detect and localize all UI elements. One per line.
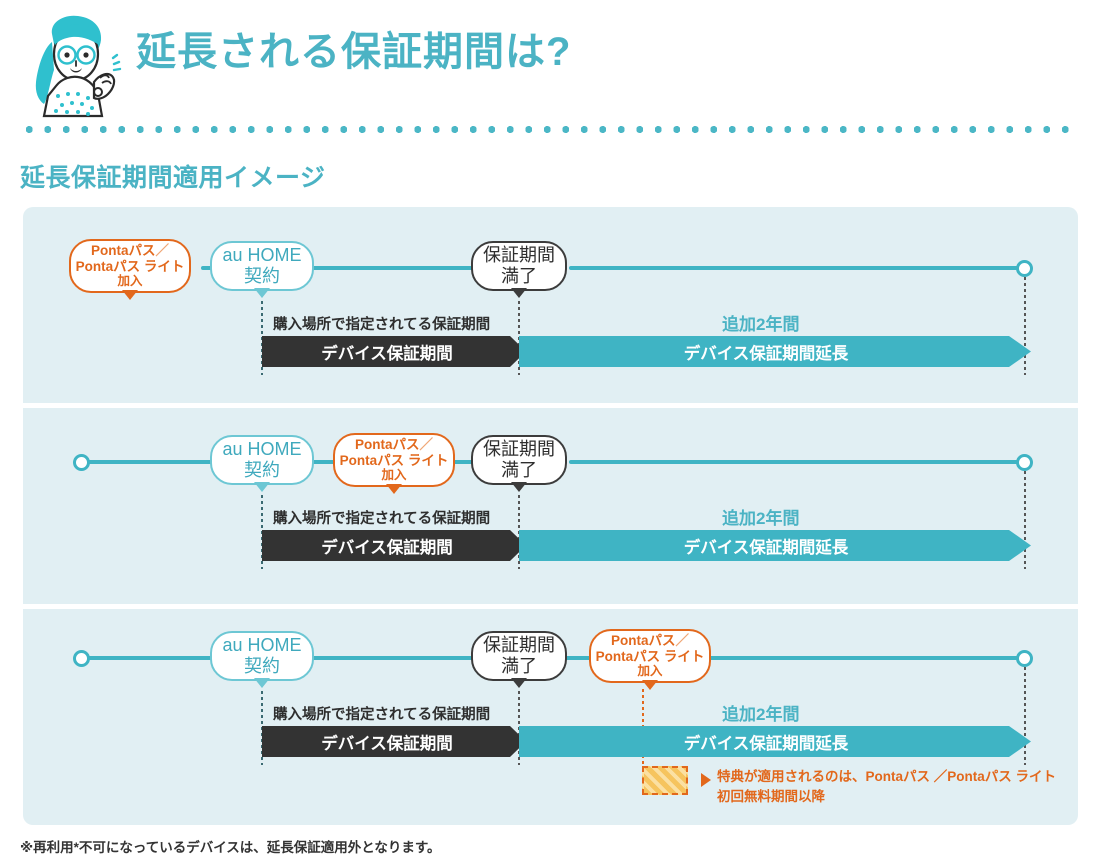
caption-extra-two-years: 追加2年間 <box>722 310 799 335</box>
bar-device-warranty-label: デバイス保証期間 <box>321 534 453 558</box>
bubble-tail <box>511 288 527 298</box>
badge-warranty-end: 保証期間 満了 <box>471 241 567 291</box>
benefit-note: 特典が適用されるのは、Pontaパス ／Pontaパス ライト 初回無料期間以降 <box>717 767 1056 806</box>
benefit-note-line2: 初回無料期間以降 <box>717 787 1056 807</box>
ponta-badge-line3: 加入 <box>637 664 662 678</box>
bubble-tail <box>642 680 658 690</box>
au-home-line1: au HOME <box>222 635 301 656</box>
ponta-badge-line3: 加入 <box>381 468 406 482</box>
ponta-badge-line3: 加入 <box>117 274 142 288</box>
bar-device-warranty-extension: デバイス保証期間延長 <box>519 726 1031 757</box>
warranty-end-line2: 満了 <box>501 266 537 287</box>
bar-device-warranty-ext-label: デバイス保証期間延長 <box>684 340 849 364</box>
au-home-line2: 契約 <box>244 266 280 287</box>
page-header: 延長される保証期間は? <box>0 0 1100 130</box>
badge-warranty-end: 保証期間 満了 <box>471 631 567 681</box>
badge-au-home-contract: au HOME 契約 <box>210 241 314 291</box>
ponta-slash: ／ <box>420 437 434 452</box>
timeline-row-case-2: au HOME 契約 Pontaパス／ Pontaパス ライト 加入 保証期間 … <box>23 408 1078 608</box>
ponta-badge-line2: Pontaパス ライト <box>596 649 705 665</box>
ponta-badge-line1: Pontaパス／ <box>611 633 689 649</box>
guide-line-end <box>1024 277 1026 375</box>
warranty-end-line1: 保証期間 <box>483 245 555 266</box>
badge-au-home-contract: au HOME 契約 <box>210 631 314 681</box>
timeline-line <box>88 656 213 660</box>
guide-line-end <box>1024 667 1026 765</box>
section-title: 延長保証期間適用イメージ <box>20 158 326 194</box>
au-home-line2: 契約 <box>244 656 280 677</box>
badge-ponta-subscribe: Pontaパス／ Pontaパス ライト 加入 <box>589 629 711 683</box>
hatched-free-period-box <box>642 766 688 795</box>
timeline-line <box>311 656 473 660</box>
ponta-badge-line2: Pontaパス ライト <box>340 453 449 469</box>
timeline-panel: Pontaパス／ Pontaパス ライト 加入 au HOME 契約 保証期間 … <box>23 207 1078 825</box>
caption-purchase-warranty: 購入場所で指定されてる保証期間 <box>273 703 490 724</box>
dotted-divider <box>20 126 1080 133</box>
timeline-end-dot <box>1016 260 1033 277</box>
bar-device-warranty-extension: デバイス保証期間延長 <box>519 336 1031 367</box>
timeline-line <box>569 460 1024 464</box>
bubble-tail <box>254 288 270 298</box>
ponta-badge-line2: Pontaパス ライト <box>76 259 185 275</box>
ponta-slash: ／ <box>676 633 690 648</box>
page-title: 延長される保証期間は? <box>136 30 571 74</box>
au-home-line1: au HOME <box>222 245 301 266</box>
timeline-row-case-3: au HOME 契約 保証期間 満了 Pontaパス／ Pontaパス ライト … <box>23 609 1078 825</box>
badge-ponta-subscribe: Pontaパス／ Pontaパス ライト 加入 <box>69 239 191 293</box>
bar-device-warranty: デバイス保証期間 <box>262 726 526 757</box>
bar-device-warranty-label: デバイス保証期間 <box>321 340 453 364</box>
timeline-row-case-1: Pontaパス／ Pontaパス ライト 加入 au HOME 契約 保証期間 … <box>23 207 1078 407</box>
benefit-note-line1: 特典が適用されるのは、Pontaパス ／Pontaパス ライト <box>717 767 1056 787</box>
ponta-badge-line1: Pontaパス／ <box>91 243 169 259</box>
timeline-end-dot <box>1016 650 1033 667</box>
ponta-slash: ／ <box>156 243 170 258</box>
bubble-tail <box>122 290 138 300</box>
bubble-tail <box>511 482 527 492</box>
warranty-end-line2: 満了 <box>501 656 537 677</box>
bubble-tail <box>511 678 527 688</box>
warranty-period-infographic: 延長される保証期間は? 延長保証期間適用イメージ Pontaパス／ Pontaパ… <box>0 0 1100 864</box>
bar-device-warranty: デバイス保証期間 <box>262 530 526 561</box>
caption-extra-two-years: 追加2年間 <box>722 504 799 529</box>
warranty-end-line1: 保証期間 <box>483 635 555 656</box>
au-home-line1: au HOME <box>222 439 301 460</box>
bubble-tail <box>254 678 270 688</box>
woman-with-glasses-illustration <box>22 12 126 120</box>
timeline-line <box>88 460 213 464</box>
badge-warranty-end: 保証期間 満了 <box>471 435 567 485</box>
footnote: ※再利用*不可になっているデバイスは、延長保証適用外となります。 <box>20 836 441 856</box>
badge-ponta-subscribe: Pontaパス／ Pontaパス ライト 加入 <box>333 433 455 487</box>
caption-purchase-warranty: 購入場所で指定されてる保証期間 <box>273 507 490 528</box>
warranty-end-line2: 満了 <box>501 460 537 481</box>
bar-device-warranty-ext-label: デバイス保証期間延長 <box>684 534 849 558</box>
bar-device-warranty-extension: デバイス保証期間延長 <box>519 530 1031 561</box>
timeline-line <box>569 266 1024 270</box>
ponta-badge-line1: Pontaパス／ <box>355 437 433 453</box>
warranty-end-line1: 保証期間 <box>483 439 555 460</box>
caption-purchase-warranty: 購入場所で指定されてる保証期間 <box>273 313 490 334</box>
timeline-end-dot <box>1016 454 1033 471</box>
bubble-tail <box>386 484 402 494</box>
timeline-line <box>709 656 1024 660</box>
note-arrow-icon <box>701 773 711 787</box>
guide-line-end <box>1024 471 1026 569</box>
bar-device-warranty: デバイス保証期間 <box>262 336 526 367</box>
bar-device-warranty-label: デバイス保証期間 <box>321 730 453 754</box>
badge-au-home-contract: au HOME 契約 <box>210 435 314 485</box>
bar-device-warranty-ext-label: デバイス保証期間延長 <box>684 730 849 754</box>
caption-extra-two-years: 追加2年間 <box>722 700 799 725</box>
bubble-tail <box>254 482 270 492</box>
au-home-line2: 契約 <box>244 460 280 481</box>
